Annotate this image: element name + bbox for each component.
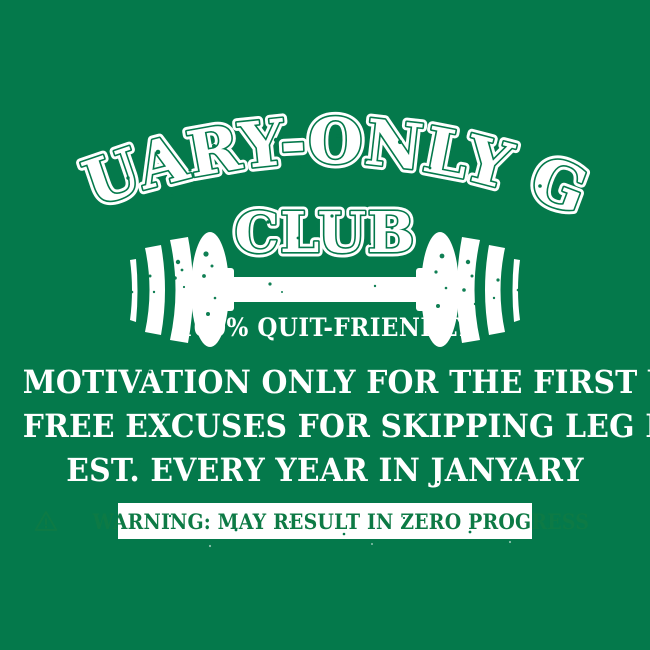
emblem-tagline: 100% QUIT-FRIENDLY: [26, 313, 624, 342]
body-lines: MOTIVATION ONLY FOR THE FIRST WEEKS FREE…: [0, 360, 650, 492]
warning-banner: WARNING: MAY RESULT IN ZERO PROGRESS: [118, 503, 532, 539]
warning-triangle-icon: [34, 510, 58, 532]
body-line: MOTIVATION ONLY FOR THE FIRST WEEKS: [23, 360, 628, 404]
body-line: FREE EXCUSES FOR SKIPPING LEG DAY: [23, 404, 628, 448]
warning-text: WARNING: MAY RESULT IN ZERO PROGRESS: [92, 509, 588, 534]
tshirt-graphic-poster: JANUARY-ONLY GYM JANUARY-ONLY GYM CLUB C…: [0, 0, 650, 650]
body-line: EST. EVERY YEAR IN JANYARY: [23, 448, 628, 492]
